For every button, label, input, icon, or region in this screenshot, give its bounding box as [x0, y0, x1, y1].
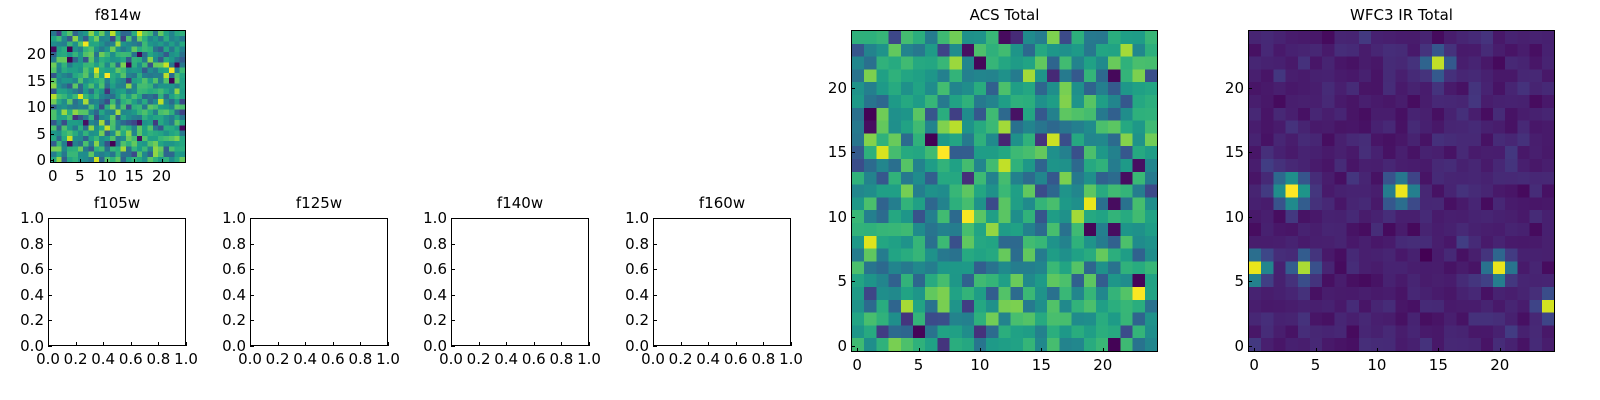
- xtick-f140w-5: [589, 342, 590, 346]
- xtick-f105w-3: [131, 342, 132, 346]
- yticklabel-f140w-0: 0.0: [406, 337, 447, 355]
- xtick-wfc3_ir_total-0: [1254, 348, 1255, 352]
- panel-title-acs_total: ACS Total: [851, 6, 1158, 24]
- ytick-f160w-3: [653, 269, 657, 270]
- heatmap-wfc3_ir_total: [1249, 31, 1554, 351]
- xtick-acs_total-1: [919, 348, 920, 352]
- xtick-f160w-3: [736, 342, 737, 346]
- ytick-f105w-5: [48, 218, 52, 219]
- yticklabel-wfc3_ir_total-1: 5: [1203, 272, 1244, 290]
- ytick-f814w-3: [50, 81, 54, 82]
- ytick-acs_total-3: [851, 152, 855, 153]
- ytick-wfc3_ir_total-4: [1248, 88, 1252, 89]
- panel-f140w: f140w0.00.20.40.60.81.00.00.20.40.60.81.…: [406, 194, 589, 374]
- xtick-f140w-1: [479, 342, 480, 346]
- panel-wfc3_ir_total: WFC3 IR Total0510152005101520: [1203, 6, 1555, 380]
- yticklabel-f160w-0: 0.0: [608, 337, 649, 355]
- heatmap-f814w: [51, 31, 185, 162]
- ytick-f125w-1: [250, 320, 254, 321]
- yticklabel-f140w-1: 0.2: [406, 311, 447, 329]
- yticklabel-f814w-0: 0: [5, 151, 46, 169]
- ytick-f160w-4: [653, 244, 657, 245]
- yticklabel-f125w-1: 0.2: [205, 311, 246, 329]
- xtick-f814w-1: [80, 159, 81, 163]
- xticklabel-wfc3_ir_total-1: 5: [1286, 356, 1346, 374]
- yticklabel-f105w-4: 0.8: [3, 235, 44, 253]
- xtick-wfc3_ir_total-1: [1316, 348, 1317, 352]
- ytick-f125w-4: [250, 244, 254, 245]
- ytick-f125w-2: [250, 295, 254, 296]
- xtick-wfc3_ir_total-4: [1500, 348, 1501, 352]
- heatmap-acs_total: [852, 31, 1157, 351]
- ytick-f105w-0: [48, 346, 52, 347]
- yticklabel-f160w-3: 0.6: [608, 260, 649, 278]
- yticklabel-f160w-2: 0.4: [608, 286, 649, 304]
- xtick-f125w-4: [360, 342, 361, 346]
- panel-f105w: f105w0.00.20.40.60.81.00.00.20.40.60.81.…: [3, 194, 186, 374]
- yticklabel-f125w-2: 0.4: [205, 286, 246, 304]
- xtick-acs_total-4: [1103, 348, 1104, 352]
- ytick-f125w-3: [250, 269, 254, 270]
- yticklabel-f814w-3: 15: [5, 72, 46, 90]
- xticklabel-acs_total-1: 5: [889, 356, 949, 374]
- xtick-f105w-4: [158, 342, 159, 346]
- ytick-acs_total-2: [851, 217, 855, 218]
- xtick-acs_total-0: [857, 348, 858, 352]
- xtick-f814w-2: [107, 159, 108, 163]
- ytick-f814w-2: [50, 107, 54, 108]
- xtick-f140w-2: [506, 342, 507, 346]
- axes-f814w: [50, 30, 186, 163]
- yticklabel-wfc3_ir_total-3: 15: [1203, 143, 1244, 161]
- yticklabel-f814w-1: 5: [5, 125, 46, 143]
- ytick-f814w-1: [50, 134, 54, 135]
- ytick-f814w-0: [50, 160, 54, 161]
- ytick-f105w-3: [48, 269, 52, 270]
- xticklabel-wfc3_ir_total-3: 15: [1408, 356, 1468, 374]
- ytick-f140w-1: [451, 320, 455, 321]
- xticklabel-acs_total-0: 0: [827, 356, 887, 374]
- ytick-f814w-4: [50, 54, 54, 55]
- yticklabel-acs_total-2: 10: [806, 208, 847, 226]
- ytick-f105w-1: [48, 320, 52, 321]
- panel-title-f814w: f814w: [50, 6, 186, 24]
- xtick-f125w-3: [333, 342, 334, 346]
- ytick-f160w-1: [653, 320, 657, 321]
- xtick-wfc3_ir_total-3: [1438, 348, 1439, 352]
- xtick-f160w-5: [791, 342, 792, 346]
- yticklabel-f125w-0: 0.0: [205, 337, 246, 355]
- xtick-f105w-5: [186, 342, 187, 346]
- yticklabel-wfc3_ir_total-0: 0: [1203, 337, 1244, 355]
- yticklabel-f105w-2: 0.4: [3, 286, 44, 304]
- axes-acs_total: [851, 30, 1158, 352]
- axes-f125w: [250, 218, 388, 346]
- yticklabel-f140w-5: 1.0: [406, 209, 447, 227]
- yticklabel-acs_total-4: 20: [806, 79, 847, 97]
- yticklabel-acs_total-1: 5: [806, 272, 847, 290]
- xtick-f125w-1: [278, 342, 279, 346]
- panel-title-f105w: f105w: [48, 194, 186, 212]
- axes-f160w: [653, 218, 791, 346]
- ytick-acs_total-0: [851, 346, 855, 347]
- ytick-f160w-2: [653, 295, 657, 296]
- ytick-f160w-5: [653, 218, 657, 219]
- ytick-f140w-4: [451, 244, 455, 245]
- panel-title-f140w: f140w: [451, 194, 589, 212]
- yticklabel-f140w-2: 0.4: [406, 286, 447, 304]
- xtick-f160w-1: [681, 342, 682, 346]
- yticklabel-f140w-3: 0.6: [406, 260, 447, 278]
- yticklabel-wfc3_ir_total-4: 20: [1203, 79, 1244, 97]
- panel-title-wfc3_ir_total: WFC3 IR Total: [1248, 6, 1555, 24]
- xtick-f140w-3: [534, 342, 535, 346]
- xtick-f105w-2: [103, 342, 104, 346]
- ytick-f140w-0: [451, 346, 455, 347]
- xticklabel-acs_total-2: 10: [950, 356, 1010, 374]
- xtick-f160w-2: [708, 342, 709, 346]
- xtick-f814w-4: [162, 159, 163, 163]
- ytick-f125w-0: [250, 346, 254, 347]
- ytick-f140w-5: [451, 218, 455, 219]
- ytick-acs_total-1: [851, 281, 855, 282]
- yticklabel-f814w-2: 10: [5, 98, 46, 116]
- panel-f814w: f814w0510152005101520: [5, 6, 186, 191]
- yticklabel-f125w-4: 0.8: [205, 235, 246, 253]
- xtick-acs_total-3: [1041, 348, 1042, 352]
- xtick-f105w-1: [76, 342, 77, 346]
- yticklabel-f160w-5: 1.0: [608, 209, 649, 227]
- xtick-f125w-5: [388, 342, 389, 346]
- yticklabel-f160w-1: 0.2: [608, 311, 649, 329]
- panel-title-f160w: f160w: [653, 194, 791, 212]
- axes-f140w: [451, 218, 589, 346]
- xtick-f160w-4: [763, 342, 764, 346]
- ytick-wfc3_ir_total-3: [1248, 152, 1252, 153]
- yticklabel-wfc3_ir_total-2: 10: [1203, 208, 1244, 226]
- axes-f105w: [48, 218, 186, 346]
- ytick-f160w-0: [653, 346, 657, 347]
- xtick-wfc3_ir_total-2: [1377, 348, 1378, 352]
- ytick-f105w-4: [48, 244, 52, 245]
- panel-f125w: f125w0.00.20.40.60.81.00.00.20.40.60.81.…: [205, 194, 388, 374]
- xticklabel-f814w-4: 20: [132, 167, 192, 185]
- ytick-f140w-2: [451, 295, 455, 296]
- yticklabel-acs_total-0: 0: [806, 337, 847, 355]
- panel-f160w: f160w0.00.20.40.60.81.00.00.20.40.60.81.…: [608, 194, 791, 374]
- yticklabel-acs_total-3: 15: [806, 143, 847, 161]
- yticklabel-f105w-3: 0.6: [3, 260, 44, 278]
- yticklabel-f125w-3: 0.6: [205, 260, 246, 278]
- ytick-f125w-5: [250, 218, 254, 219]
- yticklabel-f140w-4: 0.8: [406, 235, 447, 253]
- xticklabel-acs_total-4: 20: [1073, 356, 1133, 374]
- ytick-wfc3_ir_total-2: [1248, 217, 1252, 218]
- xticklabel-wfc3_ir_total-2: 10: [1347, 356, 1407, 374]
- ytick-wfc3_ir_total-1: [1248, 281, 1252, 282]
- yticklabel-f105w-5: 1.0: [3, 209, 44, 227]
- yticklabel-f160w-4: 0.8: [608, 235, 649, 253]
- ytick-wfc3_ir_total-0: [1248, 346, 1252, 347]
- yticklabel-f105w-0: 0.0: [3, 337, 44, 355]
- ytick-acs_total-4: [851, 88, 855, 89]
- xticklabel-acs_total-3: 15: [1011, 356, 1071, 374]
- xtick-acs_total-2: [980, 348, 981, 352]
- xticklabel-wfc3_ir_total-4: 20: [1470, 356, 1530, 374]
- xtick-f814w-3: [134, 159, 135, 163]
- yticklabel-f814w-4: 20: [5, 45, 46, 63]
- yticklabel-f105w-1: 0.2: [3, 311, 44, 329]
- panel-acs_total: ACS Total0510152005101520: [806, 6, 1158, 380]
- ytick-f105w-2: [48, 295, 52, 296]
- ytick-f140w-3: [451, 269, 455, 270]
- axes-wfc3_ir_total: [1248, 30, 1555, 352]
- xtick-f140w-4: [561, 342, 562, 346]
- yticklabel-f125w-5: 1.0: [205, 209, 246, 227]
- xtick-f125w-2: [305, 342, 306, 346]
- panel-title-f125w: f125w: [250, 194, 388, 212]
- xticklabel-wfc3_ir_total-0: 0: [1224, 356, 1284, 374]
